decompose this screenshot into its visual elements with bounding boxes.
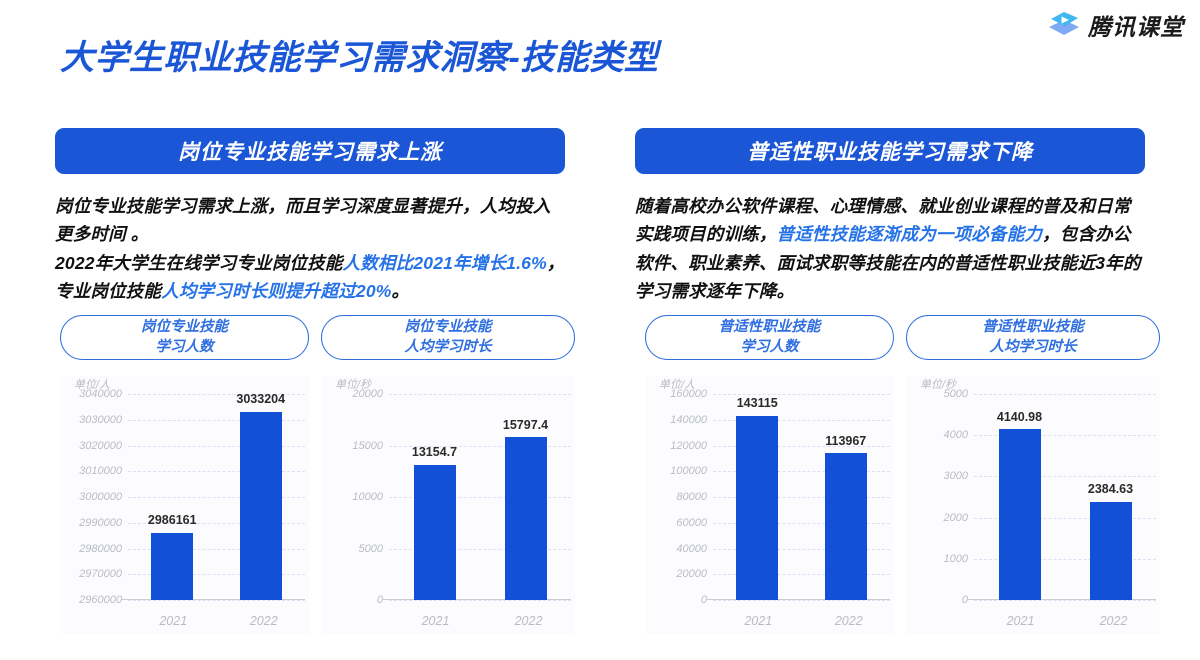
bar[interactable] bbox=[151, 533, 193, 600]
bar-slot: 3033204 bbox=[217, 394, 306, 600]
x-axis-tick: 2021 bbox=[422, 614, 450, 628]
y-axis-tick: 3000 bbox=[906, 470, 968, 482]
y-axis-tick: 4000 bbox=[906, 429, 968, 441]
brand-logo: 腾讯课堂 bbox=[1047, 8, 1184, 42]
bar[interactable] bbox=[240, 412, 282, 601]
chart-title-line2: 人均学习时长 bbox=[990, 338, 1077, 357]
chart-title-line1: 普适性职业技能 bbox=[982, 318, 1084, 337]
x-tick-slot: 2021 bbox=[389, 600, 482, 634]
body-text: 2022年大学生在线学习专业岗位技能 bbox=[55, 253, 343, 273]
highlight-text: 普适性技能逐渐成为一项必备能力 bbox=[777, 224, 1043, 244]
page-title: 大学生职业技能学习需求洞察-技能类型 bbox=[60, 30, 658, 79]
x-tick-slot: 2022 bbox=[804, 600, 895, 634]
y-axis-tick: 2990000 bbox=[60, 517, 122, 529]
bar-series: 29861613033204 bbox=[128, 394, 305, 600]
y-axis-tick: 40000 bbox=[645, 543, 707, 555]
x-axis-ticks: 20212022 bbox=[713, 600, 894, 634]
x-axis-ticks: 20212022 bbox=[128, 600, 309, 634]
panel-left: 岗位专业技能学习需求上涨 岗位专业技能学习需求上涨，而且学习深度显著提升，人均投… bbox=[55, 128, 565, 305]
y-axis-tick: 2970000 bbox=[60, 568, 122, 580]
bar-series: 13154.715797.4 bbox=[389, 394, 571, 600]
chart-title-line2: 学习人数 bbox=[741, 338, 799, 357]
y-axis-tick: 0 bbox=[321, 594, 383, 606]
x-axis-tick: 2021 bbox=[159, 614, 187, 628]
chart-plot-right-duration: 单位/秒 0100020003000400050004140.982384.63… bbox=[906, 376, 1160, 634]
chart-title-right-duration: 普适性职业技能 人均学习时长 bbox=[906, 315, 1160, 360]
bar-value-label: 2384.63 bbox=[1068, 482, 1154, 497]
chart-card-right-people: 普适性职业技能 学习人数 单位/人 0200004000060000800001… bbox=[645, 315, 894, 634]
x-axis-tick: 2022 bbox=[1100, 614, 1128, 628]
x-tick-slot: 2022 bbox=[219, 600, 310, 634]
y-axis-tick: 20000 bbox=[321, 388, 383, 400]
panel-left-header: 岗位专业技能学习需求上涨 bbox=[55, 128, 565, 174]
y-axis-tick: 100000 bbox=[645, 465, 707, 477]
chart-title-line1: 岗位专业技能 bbox=[141, 318, 228, 337]
chart-title-left-duration: 岗位专业技能 人均学习时长 bbox=[321, 315, 575, 360]
bar-slot: 15797.4 bbox=[480, 394, 571, 600]
paragraph: 岗位专业技能学习需求上涨，而且学习深度显著提升，人均投入更多时间 。 bbox=[55, 192, 565, 249]
chart-title-line1: 岗位专业技能 bbox=[405, 318, 492, 337]
x-tick-slot: 2021 bbox=[128, 600, 219, 634]
bar-slot: 113967 bbox=[802, 394, 891, 600]
logo-text: 腾讯课堂 bbox=[1088, 8, 1184, 42]
x-axis-ticks: 20212022 bbox=[389, 600, 575, 634]
highlight-text: 人均学习时长则提升超过20% bbox=[161, 281, 391, 301]
y-axis-tick: 0 bbox=[645, 594, 707, 606]
bar[interactable] bbox=[505, 437, 547, 600]
bar-value-label: 143115 bbox=[714, 396, 800, 411]
x-axis-tick: 2021 bbox=[1007, 614, 1035, 628]
bar-slot: 143115 bbox=[713, 394, 802, 600]
panel-right-body: 随着高校办公软件课程、心理情感、就业创业课程的普及和日常实践项目的训练，普适性技… bbox=[635, 192, 1145, 305]
slide-root: 腾讯课堂 大学生职业技能学习需求洞察-技能类型 岗位专业技能学习需求上涨 岗位专… bbox=[0, 0, 1200, 660]
y-axis-tick: 5000 bbox=[906, 388, 968, 400]
bar-slot: 4140.98 bbox=[974, 394, 1065, 600]
bar[interactable] bbox=[736, 416, 778, 600]
bar[interactable] bbox=[1090, 502, 1132, 600]
bar-value-label: 113967 bbox=[803, 434, 889, 449]
chart-group-right: 普适性职业技能 学习人数 单位/人 0200004000060000800001… bbox=[645, 315, 1160, 634]
chart-title-line1: 普适性职业技能 bbox=[719, 318, 821, 337]
x-axis-tick: 2022 bbox=[515, 614, 543, 628]
y-axis-tick: 3030000 bbox=[60, 414, 122, 426]
chart-group-left: 岗位专业技能 学习人数 单位/人 29600002970000298000029… bbox=[60, 315, 575, 634]
bar-series: 4140.982384.63 bbox=[974, 394, 1156, 600]
x-tick-slot: 2021 bbox=[713, 600, 804, 634]
bar[interactable] bbox=[414, 465, 456, 600]
chart-plot-right-people: 单位/人 02000040000600008000010000012000014… bbox=[645, 376, 894, 634]
bar-slot: 2384.63 bbox=[1065, 394, 1156, 600]
x-tick-slot: 2022 bbox=[1067, 600, 1160, 634]
chart-card-left-people: 岗位专业技能 学习人数 单位/人 29600002970000298000029… bbox=[60, 315, 309, 634]
bar-value-label: 3033204 bbox=[218, 392, 304, 407]
y-axis-tick: 5000 bbox=[321, 543, 383, 555]
graduation-play-icon bbox=[1047, 10, 1081, 40]
x-axis-tick: 2022 bbox=[250, 614, 278, 628]
y-axis-tick: 2960000 bbox=[60, 594, 122, 606]
y-axis-tick: 120000 bbox=[645, 440, 707, 452]
body-text: 。 bbox=[392, 281, 410, 301]
chart-card-right-duration: 普适性职业技能 人均学习时长 单位/秒 01000200030004000500… bbox=[906, 315, 1160, 634]
chart-title-line2: 人均学习时长 bbox=[405, 338, 492, 357]
y-axis-tick: 3000000 bbox=[60, 491, 122, 503]
panel-left-body: 岗位专业技能学习需求上涨，而且学习深度显著提升，人均投入更多时间 。2022年大… bbox=[55, 192, 565, 305]
chart-plot-left-people: 单位/人 29600002970000298000029900003000000… bbox=[60, 376, 309, 634]
y-axis-tick: 3010000 bbox=[60, 465, 122, 477]
y-axis-tick: 10000 bbox=[321, 491, 383, 503]
chart-plot-left-duration: 单位/秒 0500010000150002000013154.715797.4 … bbox=[321, 376, 575, 634]
body-text: 岗位专业技能学习需求上涨，而且学习深度显著提升，人均投入更多时间 。 bbox=[55, 196, 551, 244]
bar-value-label: 15797.4 bbox=[483, 418, 569, 433]
y-axis-tick: 160000 bbox=[645, 388, 707, 400]
x-axis-tick: 2021 bbox=[744, 614, 772, 628]
x-axis-tick: 2022 bbox=[835, 614, 863, 628]
x-axis-ticks: 20212022 bbox=[974, 600, 1160, 634]
panel-right: 普适性职业技能学习需求下降 随着高校办公软件课程、心理情感、就业创业课程的普及和… bbox=[635, 128, 1145, 305]
y-axis-tick: 0 bbox=[906, 594, 968, 606]
chart-title-right-people: 普适性职业技能 学习人数 bbox=[645, 315, 894, 360]
y-axis-tick: 80000 bbox=[645, 491, 707, 503]
chart-card-left-duration: 岗位专业技能 人均学习时长 单位/秒 050001000015000200001… bbox=[321, 315, 575, 634]
y-axis-tick: 1000 bbox=[906, 553, 968, 565]
y-axis-tick: 2980000 bbox=[60, 543, 122, 555]
y-axis-tick: 60000 bbox=[645, 517, 707, 529]
x-tick-slot: 2022 bbox=[482, 600, 575, 634]
chart-title-left-people: 岗位专业技能 学习人数 bbox=[60, 315, 309, 360]
panel-right-header: 普适性职业技能学习需求下降 bbox=[635, 128, 1145, 174]
bar-slot: 13154.7 bbox=[389, 394, 480, 600]
bar-series: 143115113967 bbox=[713, 394, 890, 600]
bar-value-label: 13154.7 bbox=[392, 445, 478, 460]
highlight-text: 人数相比2021年增长1.6% bbox=[343, 253, 547, 273]
paragraph: 随着高校办公软件课程、心理情感、就业创业课程的普及和日常实践项目的训练，普适性技… bbox=[635, 192, 1145, 305]
y-axis-tick: 3040000 bbox=[60, 388, 122, 400]
chart-title-line2: 学习人数 bbox=[156, 338, 214, 357]
bar-value-label: 4140.98 bbox=[977, 410, 1063, 425]
paragraph: 2022年大学生在线学习专业岗位技能人数相比2021年增长1.6%，专业岗位技能… bbox=[55, 249, 565, 306]
bar-slot: 2986161 bbox=[128, 394, 217, 600]
y-axis-tick: 2000 bbox=[906, 512, 968, 524]
bar-value-label: 2986161 bbox=[129, 513, 215, 528]
y-axis-tick: 20000 bbox=[645, 568, 707, 580]
bar[interactable] bbox=[999, 429, 1041, 600]
y-axis-tick: 3020000 bbox=[60, 440, 122, 452]
y-axis-tick: 140000 bbox=[645, 414, 707, 426]
bar[interactable] bbox=[825, 453, 867, 600]
x-tick-slot: 2021 bbox=[974, 600, 1067, 634]
y-axis-tick: 15000 bbox=[321, 440, 383, 452]
